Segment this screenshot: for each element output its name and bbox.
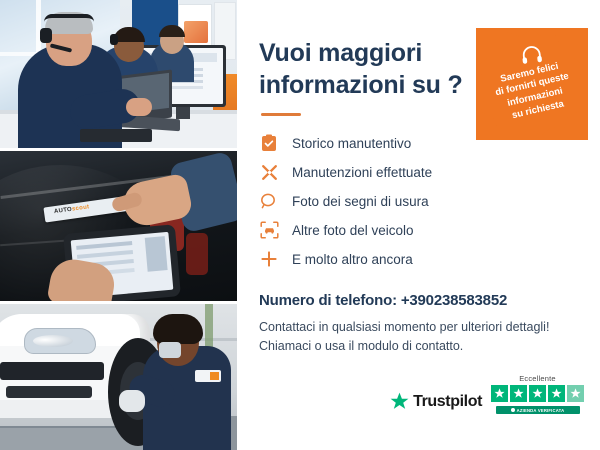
list-item-foto-segni-usura: Foto dei segni di usura [259,187,578,215]
content-panel: Vuoi maggiori informazioni su ? Storico … [237,0,600,450]
agent-hand [126,98,152,116]
trustpilot-star-3 [529,385,546,402]
page-title-line-2: informazioni su ? [259,71,463,99]
list-item-label: Altre foto del veicolo [292,223,414,238]
car-lower-grille [6,386,92,398]
verified-business-badge: AZIENDA VERIFICATA [496,406,580,414]
mechanic-face-mask [159,342,181,358]
contact-line-2: Chiamaci o usa il modulo di contatto. [259,337,578,356]
headset-earcup-2 [110,34,118,45]
list-item-altre-foto-veicolo: Altre foto del veicolo [259,216,578,244]
trustpilot-star-5 [567,385,584,402]
vehicle-inspection-tablet-photo: AUTOscout [0,151,237,301]
trustpilot-star-4 [548,385,565,402]
list-item-molto-altro: E molto altro ancora [259,245,578,273]
mechanic-wheel-check-photo [0,304,237,450]
trustpilot-star-1 [491,385,508,402]
mechanic-glove [119,390,145,412]
wrench-cross-icon [259,162,279,182]
trustpilot-badge[interactable]: Trustpilot Eccellente AZIENDA VERIFICATA [390,374,584,414]
tail-light-2 [186,233,208,275]
photo-column: AUTOscout [0,0,237,450]
verified-check-icon [511,408,515,412]
trustpilot-rating: Eccellente AZIENDA VERIFICATA [491,374,584,414]
car-frame-icon [259,220,279,240]
feature-list: Storico manutentivo Manutenzioni effettu… [259,129,578,273]
contact-instructions: Contattaci in qualsiasi momento per ulte… [259,318,578,357]
trustpilot-stars [491,385,584,402]
list-item-label: Foto dei segni di usura [292,194,429,209]
list-item-manutenzioni-effettuate: Manutenzioni effettuate [259,158,578,186]
ruler-brand-label: AUTOscout [54,204,90,215]
call-center-agents-photo [0,0,237,148]
monitor-stand [176,107,190,119]
promo-panel: AUTOscout [0,0,600,450]
phone-number[interactable]: Numero di telefono: +390238583852 [259,292,578,309]
headset-band [44,14,94,22]
trustpilot-star-icon [390,392,409,411]
headset-earcup-1 [40,28,52,43]
list-item-label: E molto altro ancora [292,252,413,267]
car-headlight [24,328,96,354]
list-item-label: Storico manutentivo [292,136,411,151]
magnifier-icon [259,191,279,211]
contact-line-1: Contattaci in qualsiasi momento per ulte… [259,318,578,337]
trustpilot-name: Trustpilot [413,393,482,411]
verified-business-label: AZIENDA VERIFICATA [517,408,565,413]
plus-icon [259,249,279,269]
list-item-label: Manutenzioni effettuate [292,165,432,180]
trustpilot-star-2 [510,385,527,402]
uniform-badge [195,370,221,382]
desk-keyboard [80,129,152,142]
car-grille [0,362,104,380]
callout-badge: Saremo felici di fornirti queste informa… [476,28,588,140]
page-title-line-1: Vuoi maggiori [259,39,422,67]
clipboard-check-icon [259,133,279,153]
mechanic-hair [153,314,203,344]
trustpilot-logo: Trustpilot [390,392,482,414]
title-divider [261,113,301,116]
trustpilot-rating-label: Eccellente [519,374,556,383]
